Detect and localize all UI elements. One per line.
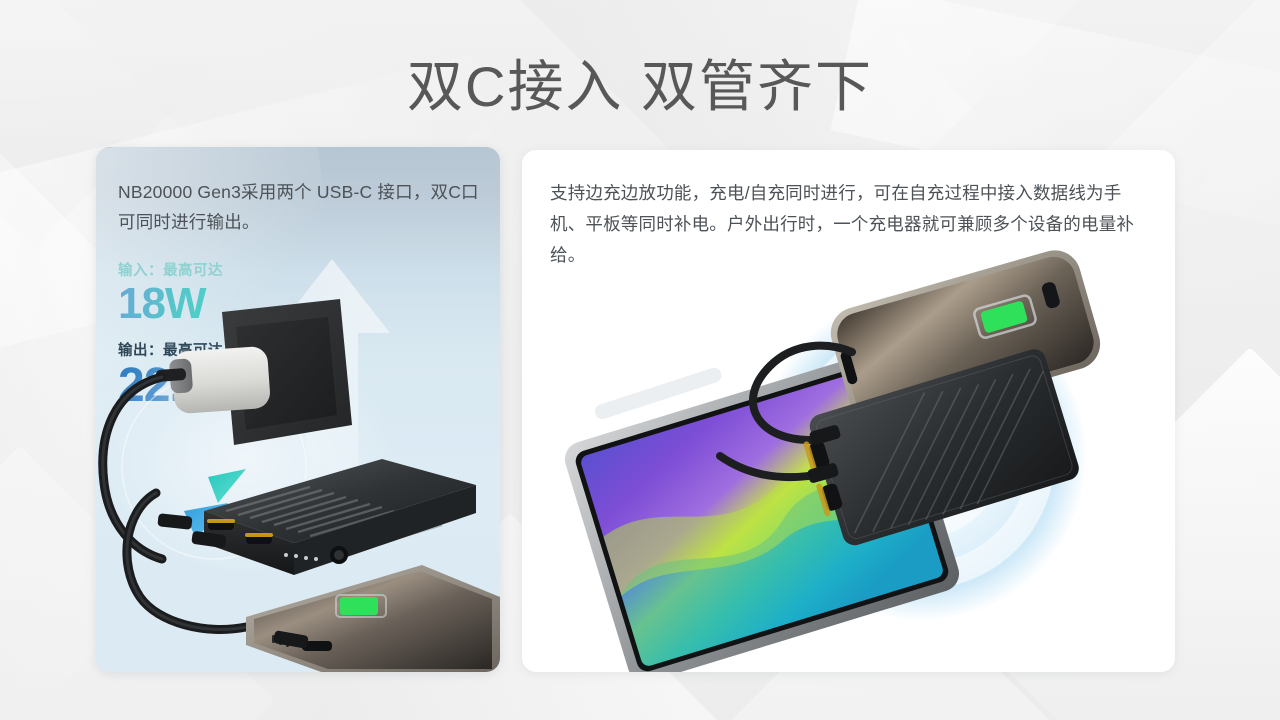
battery-charging-indicator [340,597,378,615]
left-feature-card: NB20000 Gen3采用两个 USB-C 接口，双C口可同时进行输出。 输入… [96,147,500,672]
left-card-lead-text: NB20000 Gen3采用两个 USB-C 接口，双C口可同时进行输出。 [118,177,482,237]
left-card-body: NB20000 Gen3采用两个 USB-C 接口，双C口可同时进行输出。 [118,177,482,237]
left-product-photo [96,297,500,672]
smartphone [246,565,500,672]
cards-row: NB20000 Gen3采用两个 USB-C 接口，双C口可同时进行输出。 输入… [0,147,1280,677]
right-feature-card: 支持边充边放功能，充电/自充同时进行，可在自充过程中接入数据线为手机、平板等同时… [522,150,1175,672]
right-product-photo [522,260,1175,672]
spec-input-label: 输入：最高可达 [118,263,223,280]
page-title: 双C接入 双管齐下 [0,52,1280,122]
